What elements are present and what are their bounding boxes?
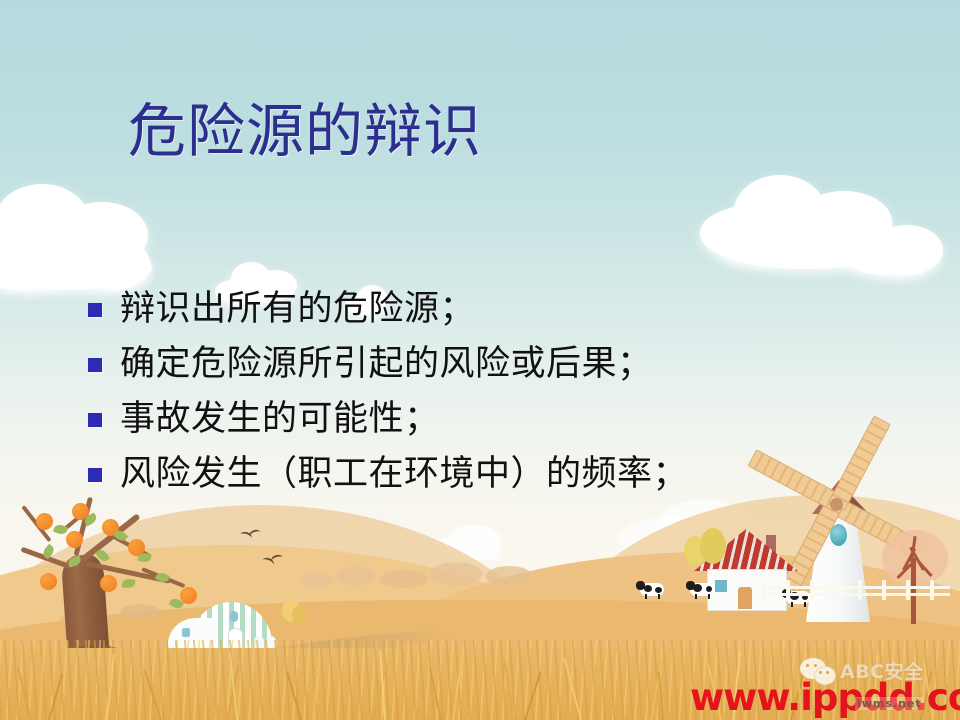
- bullet-item-3: 事故发生的可能性；: [88, 396, 908, 451]
- slide-canvas: 危险源的辩识 辩识出所有的危险源； 确定危险源所引起的风险或后果； 事故发生的可…: [0, 0, 960, 720]
- source-tag-watermark: iwms.net: [855, 697, 924, 710]
- slide-title: 危险源的辩识: [128, 99, 482, 164]
- bullet-square-icon: [88, 413, 102, 427]
- bullet-item-4: 风险发生（职工在环境中）的频率；: [88, 451, 908, 506]
- bullet-item-2: 确定危险源所引起的风险或后果；: [88, 341, 908, 396]
- bullet-square-icon: [88, 468, 102, 482]
- bullet-list: 辩识出所有的危险源； 确定危险源所引起的风险或后果； 事故发生的可能性； 风险发…: [88, 286, 908, 506]
- bullet-square-icon: [88, 358, 102, 372]
- bullet-item-1: 辩识出所有的危险源；: [88, 286, 908, 341]
- bullet-text: 事故发生的可能性；: [120, 396, 440, 442]
- bullet-text: 风险发生（职工在环境中）的频率；: [120, 451, 688, 497]
- bullet-square-icon: [88, 303, 102, 317]
- bullet-text: 辩识出所有的危险源；: [120, 286, 475, 332]
- bullet-text: 确定危险源所引起的风险或后果；: [120, 341, 653, 387]
